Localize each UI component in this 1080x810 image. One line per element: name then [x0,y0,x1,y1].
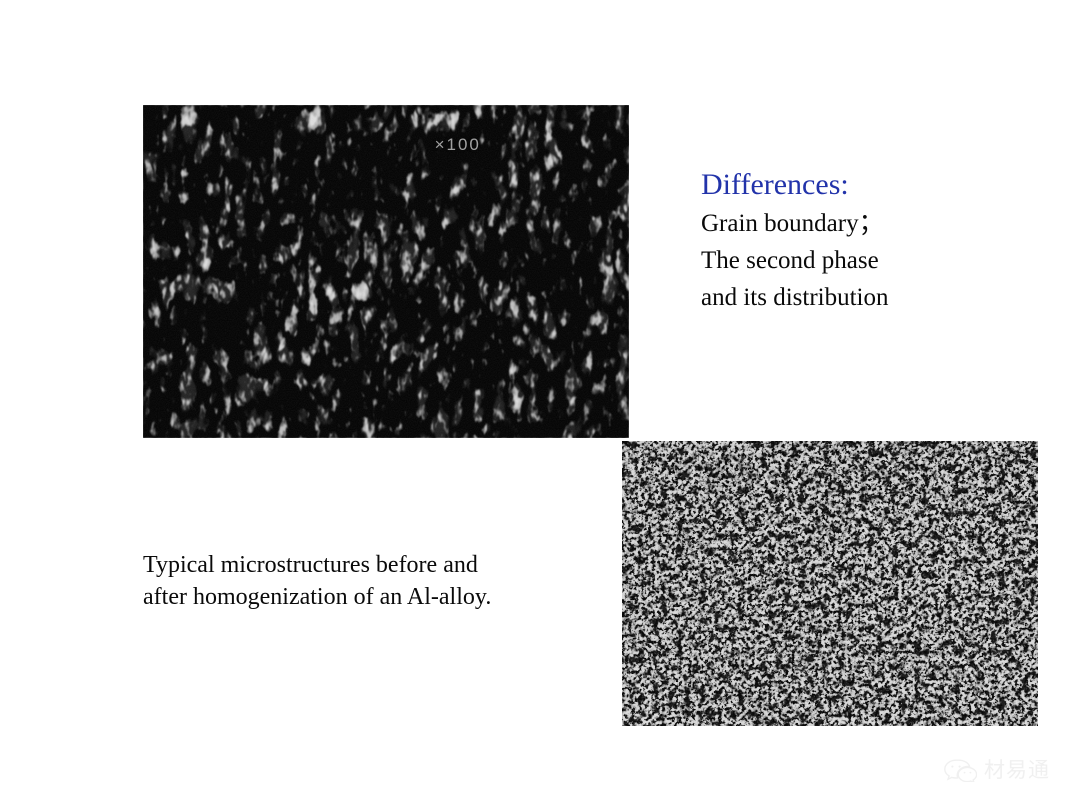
dendritic-texture [143,105,629,438]
difference-item-second-phase: The second phase [701,242,1031,279]
homogenized-dispersed-micrograph [622,441,1038,726]
watermark-label: 材易通 [984,760,1050,781]
difference-item-distribution: and its distribution [701,279,1031,316]
as-cast-dendritic-micrograph: ×100 [143,105,629,438]
dispersed-particle-texture [622,441,1038,726]
slide-canvas: ×100 [0,0,1080,810]
wechat-icon [943,758,977,782]
caption-line-2: after homogenization of an Al-alloy. [143,581,613,613]
figure-caption: Typical microstructures before and after… [143,549,613,613]
differences-text-block: Differences: Grain boundary； The second … [701,166,1031,316]
difference-item-grain-boundary: Grain boundary； [701,205,1031,242]
differences-heading: Differences: [701,166,1031,203]
caption-line-1: Typical microstructures before and [143,549,613,581]
watermark: 材易通 [943,758,1050,782]
